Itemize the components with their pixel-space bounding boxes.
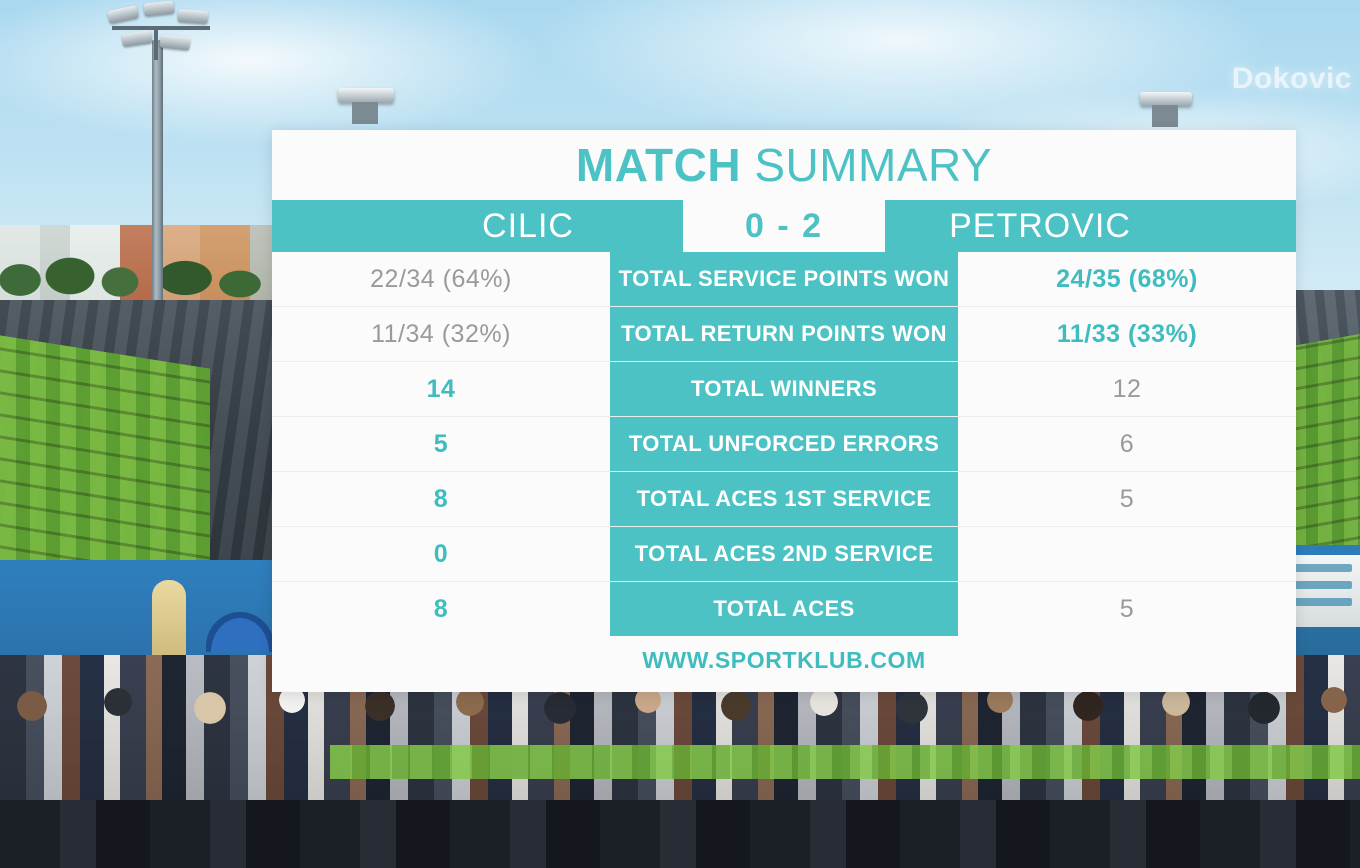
stat-value-left: 5 <box>272 417 610 471</box>
broadcast-screen: Dokovic MATCH SUMMARY CILIC PETROVIC 0 -… <box>0 0 1360 868</box>
green-seat-strip <box>330 745 1360 779</box>
page-title: MATCH SUMMARY <box>272 130 1296 200</box>
camera-rig-left <box>338 88 394 103</box>
title-light-part: SUMMARY <box>754 138 992 192</box>
green-seating-right <box>1292 334 1360 571</box>
stat-value-left: 8 <box>272 582 610 636</box>
stat-value-left: 11/34 (32%) <box>272 307 610 361</box>
table-row: 14TOTAL WINNERS12 <box>272 362 1296 417</box>
foreground-empty-seats <box>0 800 1360 868</box>
stat-value-right: 24/35 (68%) <box>958 252 1296 306</box>
venue-banner <box>1285 555 1360 627</box>
broadcast-watermark: Dokovic <box>1232 62 1352 96</box>
stat-label: TOTAL UNFORCED ERRORS <box>610 417 958 471</box>
stat-value-right: 11/33 (33%) <box>958 307 1296 361</box>
stat-label: TOTAL ACES 1ST SERVICE <box>610 472 958 526</box>
stat-value-right: 5 <box>958 472 1296 526</box>
camera-rig-right <box>1140 92 1192 106</box>
match-summary-panel: MATCH SUMMARY CILIC PETROVIC 0 - 2 22/34… <box>272 130 1296 692</box>
background-trees <box>0 230 280 310</box>
beige-umbrella <box>152 580 186 666</box>
players-header-bar: CILIC PETROVIC 0 - 2 <box>272 200 1296 252</box>
title-bold-part: MATCH <box>576 138 754 192</box>
stat-value-right: 5 <box>958 582 1296 636</box>
table-row: 11/34 (32%)TOTAL RETURN POINTS WON11/33 … <box>272 307 1296 362</box>
stat-label: TOTAL RETURN POINTS WON <box>610 307 958 361</box>
stats-table: 22/34 (64%)TOTAL SERVICE POINTS WON24/35… <box>272 252 1296 636</box>
table-row: 8TOTAL ACES5 <box>272 582 1296 636</box>
match-score: 0 - 2 <box>683 200 885 252</box>
stat-label: TOTAL SERVICE POINTS WON <box>610 252 958 306</box>
table-row: 5TOTAL UNFORCED ERRORS6 <box>272 417 1296 472</box>
footer-url: WWW.SPORTKLUB.COM <box>272 636 1296 684</box>
table-row: 0TOTAL ACES 2ND SERVICE <box>272 527 1296 582</box>
camera-post-right <box>1152 105 1178 127</box>
table-row: 8TOTAL ACES 1ST SERVICE5 <box>272 472 1296 527</box>
stat-value-left: 14 <box>272 362 610 416</box>
stat-value-right: 6 <box>958 417 1296 471</box>
stat-value-right <box>958 527 1296 581</box>
stat-value-left: 0 <box>272 527 610 581</box>
table-row: 22/34 (64%)TOTAL SERVICE POINTS WON24/35… <box>272 252 1296 307</box>
stat-value-left: 8 <box>272 472 610 526</box>
stat-label: TOTAL ACES 2ND SERVICE <box>610 527 958 581</box>
stat-value-right: 12 <box>958 362 1296 416</box>
stat-label: TOTAL WINNERS <box>610 362 958 416</box>
floodlight-lamp-cluster <box>108 2 213 64</box>
stat-label: TOTAL ACES <box>610 582 958 636</box>
camera-post-left <box>352 102 378 124</box>
stat-value-left: 22/34 (64%) <box>272 252 610 306</box>
